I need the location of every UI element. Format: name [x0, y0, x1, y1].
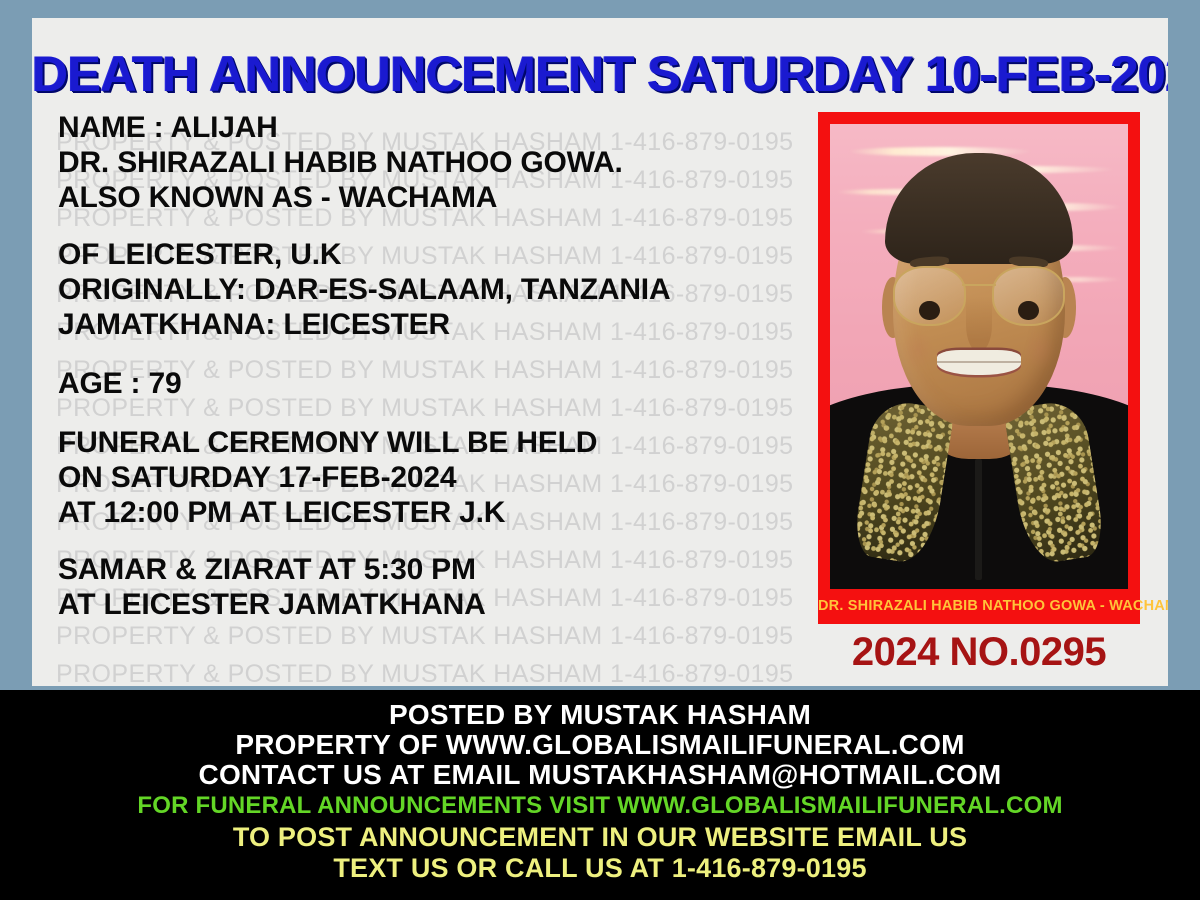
portrait-photo: [830, 124, 1128, 589]
poster-footer: POSTED BY MUSTAK HASHAM PROPERTY OF WWW.…: [0, 690, 1200, 900]
footer-posted-by: POSTED BY MUSTAK HASHAM: [0, 690, 1200, 730]
footer-contact: CONTACT US AT EMAIL MUSTAKHASHAM@HOTMAIL…: [0, 760, 1200, 790]
subject-smile: [937, 350, 1020, 376]
subject-cheek-right: [1024, 329, 1057, 371]
subject-cheek-left: [902, 329, 935, 371]
subject-eye-right: [1018, 301, 1039, 321]
detail-full-name: DR. SHIRAZALI HABIB NATHOO GOWA.: [58, 145, 818, 180]
spacer: [58, 342, 818, 366]
portrait-frame: DR. SHIRAZALI HABIB NATHOO GOWA - WACHAM…: [818, 112, 1140, 624]
funeral-line-3: AT 12:00 PM AT LEICESTER J.K: [58, 495, 818, 530]
detail-jamatkhana: JAMATKHANA: LEICESTER: [58, 307, 818, 342]
detail-age: AGE : 79: [58, 366, 818, 401]
funeral-line-1: FUNERAL CEREMONY WILL BE HELD: [58, 425, 818, 460]
samar-line-2: AT LEICESTER JAMATKHANA: [58, 587, 818, 622]
subject-nose: [966, 296, 993, 352]
watermark-line: PROPERTY & POSTED BY MUSTAK HASHAM 1-416…: [56, 622, 793, 651]
death-announcement-poster: PROPERTY & POSTED BY MUSTAK HASHAM 1-416…: [0, 0, 1200, 900]
teeth-separation-line: [937, 361, 1020, 363]
sherwani-placket: [975, 459, 982, 580]
samar-line-1: SAMAR & ZIARAT AT 5:30 PM: [58, 552, 818, 587]
page-title: DEATH ANNOUNCEMENT SATURDAY 10-FEB-2024: [32, 45, 1168, 103]
detail-residence: OF LEICESTER, U.K: [58, 237, 818, 272]
announcement-details: NAME : ALIJAH DR. SHIRAZALI HABIB NATHOO…: [58, 110, 818, 622]
serial-number: 2024 NO.0295: [818, 630, 1140, 675]
spacer: [58, 215, 818, 237]
footer-post-info: TO POST ANNOUNCEMENT IN OUR WEBSITE EMAI…: [0, 822, 1200, 853]
detail-alias: ALSO KNOWN AS - WACHAMA: [58, 180, 818, 215]
footer-phone[interactable]: TEXT US OR CALL US AT 1-416-879-0195: [0, 853, 1200, 884]
portrait-caption: DR. SHIRAZALI HABIB NATHOO GOWA - WACHAM…: [818, 589, 1140, 624]
footer-website[interactable]: FOR FUNERAL ANNOUNCEMENTS VISIT WWW.GLOB…: [0, 790, 1200, 822]
eyeglass-bridge: [962, 284, 997, 287]
spacer: [58, 401, 818, 425]
poster-content-panel: PROPERTY & POSTED BY MUSTAK HASHAM 1-416…: [32, 18, 1168, 686]
spacer: [58, 530, 818, 552]
detail-name-label: NAME : ALIJAH: [58, 110, 818, 145]
detail-origin: ORIGINALLY: DAR-ES-SALAAM, TANZANIA: [58, 272, 818, 307]
funeral-line-2: ON SATURDAY 17-FEB-2024: [58, 460, 818, 495]
footer-property: PROPERTY OF WWW.GLOBALISMAILIFUNERAL.COM: [0, 730, 1200, 760]
watermark-line: PROPERTY & POSTED BY MUSTAK HASHAM 1-416…: [56, 660, 793, 686]
